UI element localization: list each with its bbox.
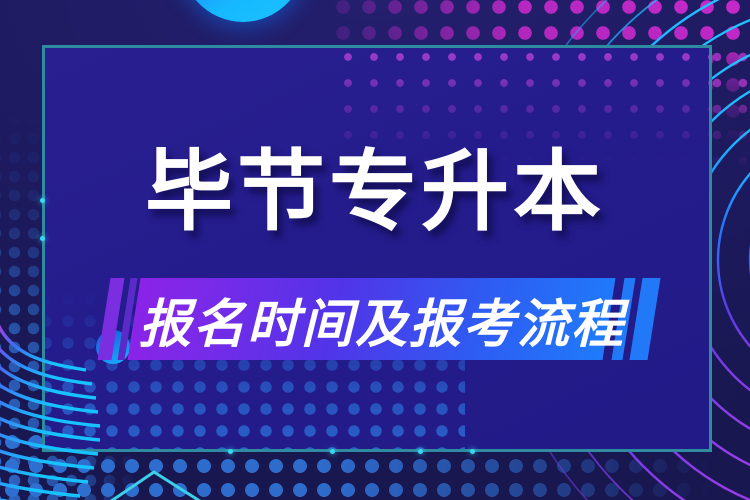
frame-glow-tick (330, 449, 335, 454)
chevron-outline-decoration (96, 470, 216, 500)
page-title: 毕节专升本 (0, 148, 750, 236)
frame-glow-tick (470, 449, 475, 454)
frame-glow-tick (228, 449, 233, 454)
subtitle-text: 报名时间及报考流程 (0, 278, 750, 360)
frame-glow-tick (40, 236, 45, 241)
subtitle-banner: 报名时间及报考流程 (0, 278, 750, 360)
frame-glow-tick (418, 449, 423, 454)
poster-banner: 毕节专升本 报名时间及报考流程 (0, 0, 750, 500)
